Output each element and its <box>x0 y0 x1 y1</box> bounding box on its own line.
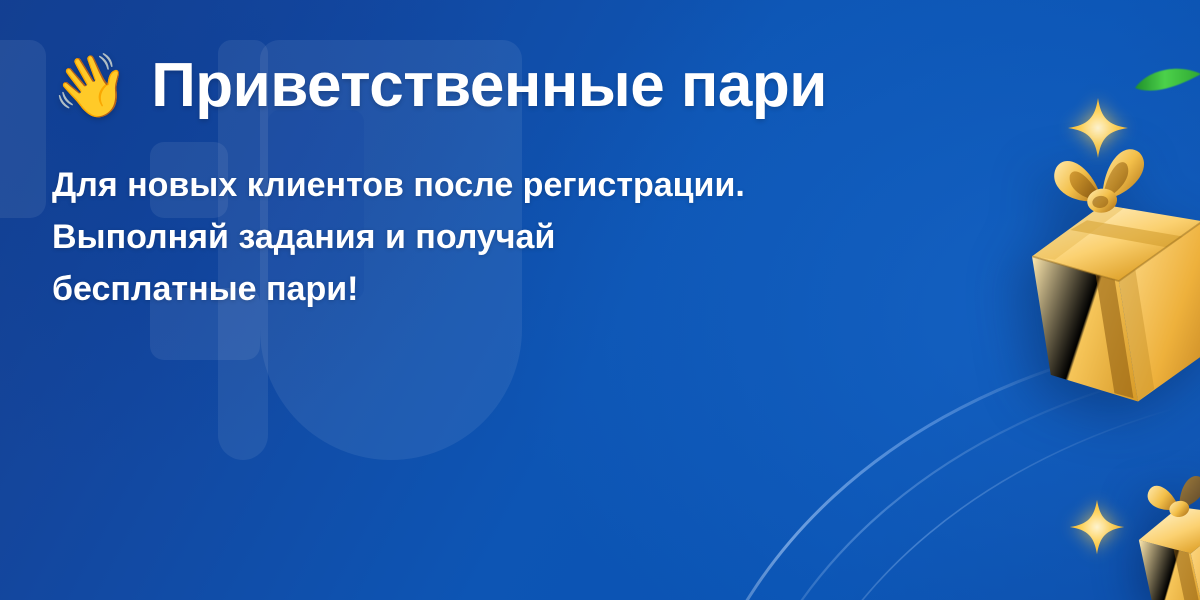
banner-subtitle: Для новых клиентов после регистрации. Вы… <box>52 159 752 315</box>
watermark-shape-left <box>0 40 46 218</box>
wave-hand-icon: 👋 <box>52 55 129 117</box>
sparkle-star-bottom-icon <box>1067 497 1127 557</box>
confetti-green-icon <box>1131 58 1200 102</box>
light-arcs-icon <box>680 300 1200 600</box>
promo-banner: 👋 Приветственные пари Для новых клиентов… <box>0 0 1200 600</box>
banner-title: Приветственные пари <box>151 54 827 117</box>
title-row: 👋 Приветственные пари <box>52 54 872 117</box>
banner-content: 👋 Приветственные пари Для новых клиентов… <box>52 54 872 315</box>
sparkle-star-top-icon <box>1066 96 1130 160</box>
gift-box-large-icon <box>1022 130 1200 420</box>
gift-box-small-icon <box>1128 470 1200 600</box>
